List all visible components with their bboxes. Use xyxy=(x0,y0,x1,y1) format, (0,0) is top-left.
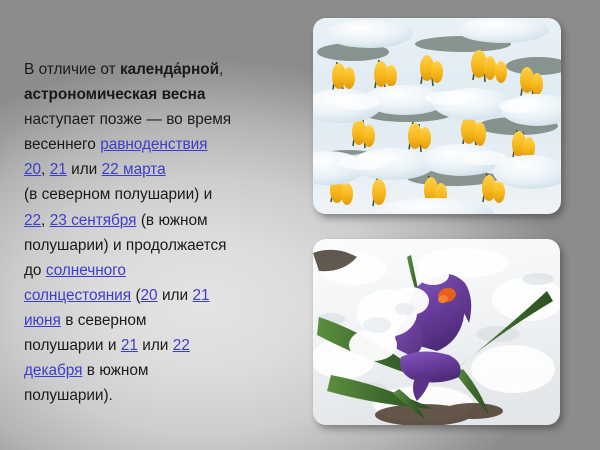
text-hyperlink[interactable]: солнечного xyxy=(46,262,126,279)
text-run: (в южном xyxy=(136,212,207,229)
text-hyperlink[interactable]: 21 xyxy=(121,337,138,354)
body-text-line: 22, 23 сентября (в южном xyxy=(24,208,292,233)
text-run: в северном xyxy=(61,312,147,329)
text-hyperlink[interactable]: 22 марта xyxy=(102,161,166,178)
text-hyperlink[interactable]: 21 xyxy=(192,287,209,304)
text-hyperlink[interactable]: 23 сентября xyxy=(50,212,137,229)
body-text-line: до солнечного xyxy=(24,258,292,283)
body-text-line: наступает позже — во время xyxy=(24,107,292,132)
purple-crocus-illustration xyxy=(313,239,560,425)
photo-purple-crocus-in-snow xyxy=(313,239,560,425)
body-text-line: декабря в южном xyxy=(24,358,292,383)
text-run: , xyxy=(219,61,223,78)
text-hyperlink[interactable]: 20 xyxy=(24,161,41,178)
text-run: , xyxy=(41,212,50,229)
body-text-line: астрономическая весна xyxy=(24,82,292,107)
body-text-line: июня в северном xyxy=(24,308,292,333)
yellow-crocuses-illustration xyxy=(313,18,561,214)
text-run: наступает позже — во время xyxy=(24,111,231,128)
body-text-block: В отличие от календа́рной,астрономическа… xyxy=(24,57,292,408)
body-text-line: полушарии). xyxy=(24,383,292,408)
body-text-line: В отличие от календа́рной, xyxy=(24,57,292,82)
photo-yellow-crocuses-in-snow xyxy=(313,18,561,214)
text-hyperlink[interactable]: 22 xyxy=(173,337,190,354)
text-run: или xyxy=(138,337,173,354)
text-run: в южном xyxy=(82,362,148,379)
text-bold-run: астрономическая весна xyxy=(24,86,205,103)
body-text-line: 20, 21 или 22 марта xyxy=(24,157,292,182)
body-text-line: полушарии и 21 или 22 xyxy=(24,333,292,358)
body-text-line: (в северном полушарии) и xyxy=(24,182,292,207)
text-hyperlink[interactable]: июня xyxy=(24,312,61,329)
text-run: до xyxy=(24,262,46,279)
text-bold-run: календа́рной xyxy=(120,61,219,78)
text-run: или xyxy=(158,287,193,304)
text-hyperlink[interactable]: 21 xyxy=(50,161,67,178)
text-run: полушарии) и продолжается xyxy=(24,237,226,254)
body-text-line: полушарии) и продолжается xyxy=(24,233,292,258)
text-run: или xyxy=(67,161,102,178)
body-text-line: весеннего равноденствия xyxy=(24,132,292,157)
text-run: полушарии). xyxy=(24,387,113,404)
text-run: весеннего xyxy=(24,136,100,153)
text-run: ( xyxy=(131,287,141,304)
text-hyperlink[interactable]: 20 xyxy=(141,287,158,304)
text-hyperlink[interactable]: 22 xyxy=(24,212,41,229)
text-hyperlink[interactable]: декабря xyxy=(24,362,82,379)
text-run: , xyxy=(41,161,50,178)
text-hyperlink[interactable]: равноденствия xyxy=(100,136,207,153)
body-text-line: солнцестояния (20 или 21 xyxy=(24,283,292,308)
text-hyperlink[interactable]: солнцестояния xyxy=(24,287,131,304)
text-run: В отличие от xyxy=(24,61,120,78)
text-run: (в северном полушарии) и xyxy=(24,186,212,203)
text-run: полушарии и xyxy=(24,337,121,354)
slide-canvas: В отличие от календа́рной,астрономическа… xyxy=(0,0,600,450)
